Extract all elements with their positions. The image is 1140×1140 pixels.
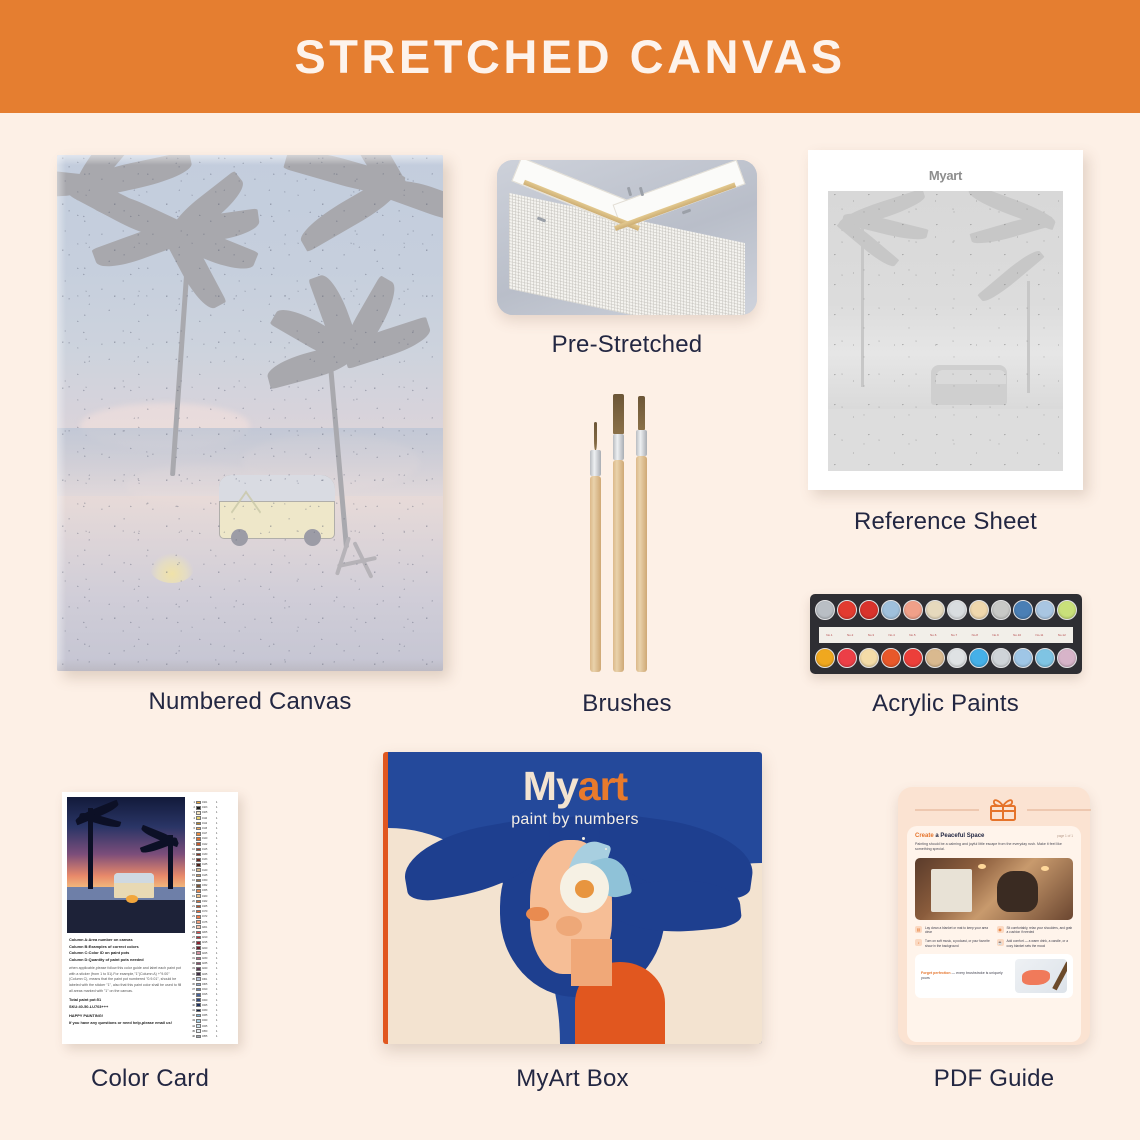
color-card-area-number: 36: [189, 983, 195, 986]
color-card-quantity: 1: [216, 806, 221, 809]
color-card-swatch: [196, 889, 201, 893]
caption-numbered-canvas: Numbered Canvas: [57, 688, 443, 716]
color-card-swatch: [196, 936, 201, 940]
color-card-color-id: 0201: [202, 926, 215, 929]
color-card-swatch: [196, 972, 201, 976]
paint-pot-label: No.5: [909, 633, 915, 637]
color-card-color-id: 0110: [202, 817, 215, 820]
reference-sheet-artwork: [828, 191, 1063, 471]
paint-pot: [837, 600, 857, 620]
color-card-quantity: 1: [216, 988, 221, 991]
color-card-swatch: [196, 941, 201, 945]
paint-pot-label: No.12: [1058, 633, 1066, 637]
color-card-quantity: 1: [216, 926, 221, 929]
color-card-area-number: 34: [189, 973, 195, 976]
color-card-swatch: [196, 1024, 201, 1028]
color-card-table: 1010112010313010514011015011216011517011…: [189, 797, 233, 1039]
color-card-quantity: 1: [216, 832, 221, 835]
pdf-guide-footer: Forget perfection — every brushstroke is…: [915, 954, 1073, 998]
paint-pot-label: No.8: [972, 633, 978, 637]
color-card-quantity: 1: [216, 957, 221, 960]
myart-box-logo: Myart paint by numbers: [388, 766, 762, 829]
color-card-area-number: 3: [189, 811, 195, 814]
color-card-color-id: 0162: [202, 900, 215, 903]
color-card-quantity: 1: [216, 843, 221, 846]
paint-pot: [881, 600, 901, 620]
color-card-area-number: 9: [189, 843, 195, 846]
color-card-row: 4603551: [189, 1034, 233, 1039]
color-card-color-id: 0145: [202, 874, 215, 877]
color-card-swatch: [196, 848, 201, 852]
brush-flat-medium: [636, 404, 647, 672]
color-card-color-id: 0225: [202, 952, 215, 955]
color-card-swatch: [196, 816, 201, 820]
color-card-color-id: 0320: [202, 999, 215, 1002]
canvas-number-dots: [57, 155, 443, 671]
color-card-swatch: [196, 1029, 201, 1033]
paint-pot-label: No.3: [868, 633, 874, 637]
color-card-color-id: 0103: [202, 806, 215, 809]
color-card-area-number: 10: [189, 848, 195, 851]
color-card-quantity: 1: [216, 999, 221, 1002]
color-card-swatch: [196, 827, 201, 831]
paint-pot: [815, 648, 835, 668]
paint-pot-label: No.9: [992, 633, 998, 637]
color-card-image: Column A:Area number on canvas Column B:…: [62, 792, 238, 1044]
logo-my-text: My: [523, 763, 578, 809]
color-card-area-number: 7: [189, 832, 195, 835]
caption-acrylic-paints: Acrylic Paints: [808, 690, 1083, 718]
color-card-area-number: 31: [189, 957, 195, 960]
color-card-area-number: 40: [189, 1004, 195, 1007]
pdf-tip-icon: ▤: [915, 926, 922, 933]
paint-pot-label: No.10: [1013, 633, 1021, 637]
paint-pot-label: No.11: [1036, 633, 1044, 637]
caption-brushes: Brushes: [497, 690, 757, 718]
paint-pot: [991, 648, 1011, 668]
pdf-tip-text: Add comfort — a warm drink, a candle, or…: [1007, 939, 1074, 948]
color-card-color-id: 0305: [202, 983, 215, 986]
color-card-area-number: 27: [189, 936, 195, 939]
page-header: STRETCHED CANVAS: [0, 0, 1140, 113]
paint-pot: [859, 600, 879, 620]
color-card-area-number: 12: [189, 858, 195, 861]
color-card-area-number: 22: [189, 910, 195, 913]
color-card-color-id: 0301: [202, 978, 215, 981]
color-card-quantity: 1: [216, 936, 221, 939]
color-card-swatch: [196, 1003, 201, 1007]
color-card-area-number: 1: [189, 801, 195, 804]
color-card-area-number: 21: [189, 905, 195, 908]
brush-round-fine: [590, 422, 601, 672]
color-card-swatch: [196, 1009, 201, 1013]
color-card-swatch: [196, 832, 201, 836]
color-card-swatch: [196, 931, 201, 935]
color-card-quantity: 1: [216, 1025, 221, 1028]
pdf-page-label: page 1 of 1: [1057, 834, 1073, 838]
canvas-edge-highlight: [57, 155, 443, 165]
color-card-quantity: 1: [216, 863, 221, 866]
paint-pot: [1035, 648, 1055, 668]
paint-pot: [903, 648, 923, 668]
color-card-color-id: 0117: [202, 832, 215, 835]
paint-pot: [1013, 600, 1033, 620]
paint-pot: [969, 600, 989, 620]
color-card-swatch: [196, 900, 201, 904]
color-card-quantity: 1: [216, 1030, 221, 1033]
color-card-swatch: [196, 884, 201, 888]
color-card-color-id: 0340: [202, 1019, 215, 1022]
color-card-area-number: 14: [189, 869, 195, 872]
caption-pre-stretched: Pre-Stretched: [497, 331, 757, 359]
color-card-area-number: 28: [189, 941, 195, 944]
color-card-color-id: 0350: [202, 1030, 215, 1033]
color-card-area-number: 30: [189, 952, 195, 955]
color-card-color-id: 0122: [202, 843, 215, 846]
color-card-quantity: 1: [216, 889, 221, 892]
color-card-color-id: 0160: [202, 895, 215, 898]
color-card-quantity: 1: [216, 801, 221, 804]
color-card-swatch: [196, 858, 201, 862]
color-card-area-number: 8: [189, 837, 195, 840]
color-card-area-number: 4: [189, 817, 195, 820]
color-card-area-number: 45: [189, 1030, 195, 1033]
paint-pot: [903, 600, 923, 620]
color-card-color-id: 0115: [202, 827, 215, 830]
color-card-color-id: 0345: [202, 1025, 215, 1028]
pre-stretched-image: [497, 160, 757, 315]
color-card-quantity: 1: [216, 827, 221, 830]
color-card-quantity: 1: [216, 993, 221, 996]
pdf-tip-item: ☕Add comfort — a warm drink, a candle, o…: [997, 939, 1074, 948]
color-card-swatch: [196, 962, 201, 966]
paint-pot: [947, 648, 967, 668]
color-card-area-number: 35: [189, 978, 195, 981]
caption-myart-box: MyArt Box: [383, 1065, 762, 1093]
pdf-tip-text: Turn on soft music, a podcast, or your f…: [925, 939, 992, 948]
color-card-quantity: 1: [216, 879, 221, 882]
color-card-color-id: 0325: [202, 1004, 215, 1007]
color-card-swatch: [196, 1014, 201, 1018]
color-card-quantity: 1: [216, 848, 221, 851]
color-card-color-id: 0133: [202, 858, 215, 861]
color-card-quantity: 1: [216, 1009, 221, 1012]
color-card-color-id: 0175: [202, 921, 215, 924]
color-card-color-id: 0112: [202, 822, 215, 825]
color-card-color-id: 0172: [202, 915, 215, 918]
pdf-guide-image: Create a Peaceful Space page 1 of 1 Pain…: [898, 787, 1090, 1045]
color-card-quantity: 1: [216, 869, 221, 872]
brushes-image: [590, 392, 670, 672]
color-card-color-id: 0155: [202, 889, 215, 892]
paint-pot: [837, 648, 857, 668]
color-card-swatch: [196, 983, 201, 987]
paint-pot: [815, 600, 835, 620]
color-card-swatch: [196, 879, 201, 883]
color-card-color-id: 0315: [202, 993, 215, 996]
color-card-quantity: 1: [216, 900, 221, 903]
color-card-color-id: 0101: [202, 801, 215, 804]
paint-pot-label: No.7: [951, 633, 957, 637]
color-card-area-number: 43: [189, 1019, 195, 1022]
color-card-quantity: 1: [216, 921, 221, 924]
color-card-swatch: [196, 988, 201, 992]
color-card-area-number: 24: [189, 921, 195, 924]
color-card-swatch: [196, 946, 201, 950]
pdf-guide-subtitle: Painting should be a calming and joyful …: [915, 842, 1073, 853]
pdf-tip-text: Sit comfortably, relax your shoulders, a…: [1007, 926, 1074, 935]
paint-pot: [1057, 648, 1077, 668]
color-card-swatch: [196, 874, 201, 878]
paint-pot-row-top: [815, 600, 1077, 620]
color-card-swatch: [196, 925, 201, 929]
pdf-footer-thumbnail: [1015, 959, 1067, 993]
color-card-quantity: 1: [216, 931, 221, 934]
paint-pot: [881, 648, 901, 668]
logo-tagline: paint by numbers: [388, 811, 762, 829]
color-card-quantity: 1: [216, 967, 221, 970]
color-card-swatch: [196, 977, 201, 981]
color-card-area-number: 41: [189, 1009, 195, 1012]
color-card-quantity: 1: [216, 858, 221, 861]
color-card-quantity: 1: [216, 822, 221, 825]
color-card-swatch: [196, 951, 201, 955]
color-card-area-number: 13: [189, 863, 195, 866]
color-card-quantity: 1: [216, 1019, 221, 1022]
color-card-color-id: 0165: [202, 905, 215, 908]
color-card-quantity: 1: [216, 1035, 221, 1038]
caption-reference-sheet: Reference Sheet: [808, 508, 1083, 536]
color-card-quantity: 1: [216, 941, 221, 944]
color-card-swatch: [196, 822, 201, 826]
color-card-area-number: 15: [189, 874, 195, 877]
color-card-swatch: [196, 1035, 201, 1039]
color-card-area-number: 25: [189, 926, 195, 929]
color-card-quantity: 1: [216, 817, 221, 820]
color-card-quantity: 1: [216, 915, 221, 918]
pdf-tip-item: ◉Sit comfortably, relax your shoulders, …: [997, 926, 1074, 935]
caption-pdf-guide: PDF Guide: [898, 1065, 1090, 1093]
color-card-quantity: 1: [216, 947, 221, 950]
color-card-swatch: [196, 920, 201, 924]
paint-pot: [947, 600, 967, 620]
color-card-quantity: 1: [216, 1004, 221, 1007]
color-card-swatch: [196, 998, 201, 1002]
color-card-color-id: 0235: [202, 962, 215, 965]
color-card-swatch: [196, 837, 201, 841]
color-card-swatch: [196, 1019, 201, 1023]
pdf-tip-item: ▤Lay down a blanket or mat to keep your …: [915, 926, 992, 935]
color-card-legend: Column A:Area number on canvas Column B:…: [67, 933, 185, 1026]
logo-art-text: art: [578, 763, 627, 809]
color-card-color-id: 0170: [202, 910, 215, 913]
color-card-area-number: 5: [189, 822, 195, 825]
color-card-quantity: 1: [216, 1014, 221, 1017]
numbered-canvas-image: [57, 155, 443, 671]
reference-sheet-image: Myart: [808, 150, 1083, 490]
reference-sheet-logo: Myart: [828, 168, 1063, 183]
color-card-color-id: 0105: [202, 811, 215, 814]
color-card-area-number: 16: [189, 879, 195, 882]
color-card-color-id: 0215: [202, 941, 215, 944]
color-card-color-id: 0240: [202, 967, 215, 970]
acrylic-paints-tray: No.1No.2No.3No.4No.5No.6No.7No.8No.9No.1…: [810, 594, 1082, 674]
gift-icon: [907, 796, 1081, 822]
color-card-swatch: [196, 910, 201, 914]
color-card-area-number: 26: [189, 931, 195, 934]
pdf-tip-icon: ♪: [915, 939, 922, 946]
color-card-color-id: 0210: [202, 936, 215, 939]
canvas-edge-shadow: [57, 659, 443, 671]
color-card-swatch: [196, 806, 201, 810]
paint-pot-row-bottom: [815, 648, 1077, 668]
paint-pot: [925, 648, 945, 668]
color-card-color-id: 0330: [202, 1009, 215, 1012]
color-card-area-number: 20: [189, 900, 195, 903]
color-card-color-id: 0220: [202, 947, 215, 950]
color-card-photo: [67, 797, 185, 933]
color-card-color-id: 0150: [202, 879, 215, 882]
color-card-area-number: 33: [189, 967, 195, 970]
paint-pot: [969, 648, 989, 668]
color-card-color-id: 0205: [202, 931, 215, 934]
color-card-area-number: 6: [189, 827, 195, 830]
paint-pot: [1035, 600, 1055, 620]
paint-pot: [991, 600, 1011, 620]
color-card-quantity: 1: [216, 905, 221, 908]
color-card-color-id: 0125: [202, 848, 215, 851]
caption-color-card: Color Card: [40, 1065, 260, 1093]
color-card-color-id: 0120: [202, 837, 215, 840]
color-card-color-id: 0140: [202, 869, 215, 872]
color-card-area-number: 17: [189, 884, 195, 887]
color-card-color-id: 0135: [202, 863, 215, 866]
color-card-quantity: 1: [216, 895, 221, 898]
pdf-tip-text: Lay down a blanket or mat to keep your a…: [925, 926, 992, 935]
color-card-color-id: 0130: [202, 853, 215, 856]
color-card-swatch: [196, 967, 201, 971]
color-card-area-number: 42: [189, 1014, 195, 1017]
color-card-quantity: 1: [216, 983, 221, 986]
pdf-guide-tips: ▤Lay down a blanket or mat to keep your …: [915, 926, 1073, 949]
color-card-swatch: [196, 811, 201, 815]
paint-pot-label: No.6: [930, 633, 936, 637]
color-card-swatch: [196, 894, 201, 898]
color-card-area-number: 32: [189, 962, 195, 965]
color-card-quantity: 1: [216, 811, 221, 814]
pdf-guide-photo: [915, 858, 1073, 920]
color-card-color-id: 0230: [202, 957, 215, 960]
color-card-swatch: [196, 801, 201, 805]
color-card-quantity: 1: [216, 952, 221, 955]
color-card-area-number: 38: [189, 993, 195, 996]
color-card-quantity: 1: [216, 837, 221, 840]
pdf-tip-icon: ◉: [997, 926, 1004, 933]
color-card-quantity: 1: [216, 884, 221, 887]
paint-pot: [925, 600, 945, 620]
color-card-color-id: 0310: [202, 988, 215, 991]
color-card-swatch: [196, 957, 201, 961]
color-card-area-number: 29: [189, 947, 195, 950]
color-card-swatch: [196, 853, 201, 857]
paint-pot: [859, 648, 879, 668]
paint-tray-label-strip: No.1No.2No.3No.4No.5No.6No.7No.8No.9No.1…: [819, 627, 1073, 643]
color-card-quantity: 1: [216, 978, 221, 981]
paint-pot-label: No.4: [889, 633, 895, 637]
color-card-color-id: 0335: [202, 1014, 215, 1017]
color-card-swatch: [196, 905, 201, 909]
color-card-area-number: 44: [189, 1025, 195, 1028]
color-card-area-number: 2: [189, 806, 195, 809]
color-card-area-number: 18: [189, 889, 195, 892]
color-card-area-number: 37: [189, 988, 195, 991]
color-card-area-number: 39: [189, 999, 195, 1002]
color-card-swatch: [196, 915, 201, 919]
paint-pot: [1057, 600, 1077, 620]
color-card-swatch: [196, 842, 201, 846]
color-card-area-number: 23: [189, 915, 195, 918]
paint-pot-label: No.2: [847, 633, 853, 637]
color-card-swatch: [196, 863, 201, 867]
paint-pot-label: No.1: [826, 633, 832, 637]
color-card-area-number: 19: [189, 895, 195, 898]
pdf-tip-icon: ☕: [997, 939, 1004, 946]
page-title: STRETCHED CANVAS: [294, 29, 845, 84]
color-card-color-id: 0355: [202, 1035, 215, 1038]
color-card-area-number: 46: [189, 1035, 195, 1038]
canvas-edge-highlight: [57, 155, 66, 671]
color-card-quantity: 1: [216, 853, 221, 856]
pdf-tip-item: ♪Turn on soft music, a podcast, or your …: [915, 939, 992, 948]
pdf-guide-title: Create a Peaceful Space: [915, 833, 984, 839]
color-card-swatch: [196, 868, 201, 872]
color-card-color-id: 0245: [202, 973, 215, 976]
color-card-quantity: 1: [216, 874, 221, 877]
color-card-color-id: 0152: [202, 884, 215, 887]
myart-box-image: Myart paint by numbers: [383, 752, 762, 1044]
color-card-quantity: 1: [216, 910, 221, 913]
color-card-area-number: 11: [189, 853, 195, 856]
brush-flat-wide: [613, 394, 624, 672]
color-card-swatch: [196, 993, 201, 997]
color-card-quantity: 1: [216, 973, 221, 976]
color-card-quantity: 1: [216, 962, 221, 965]
paint-pot: [1013, 648, 1033, 668]
